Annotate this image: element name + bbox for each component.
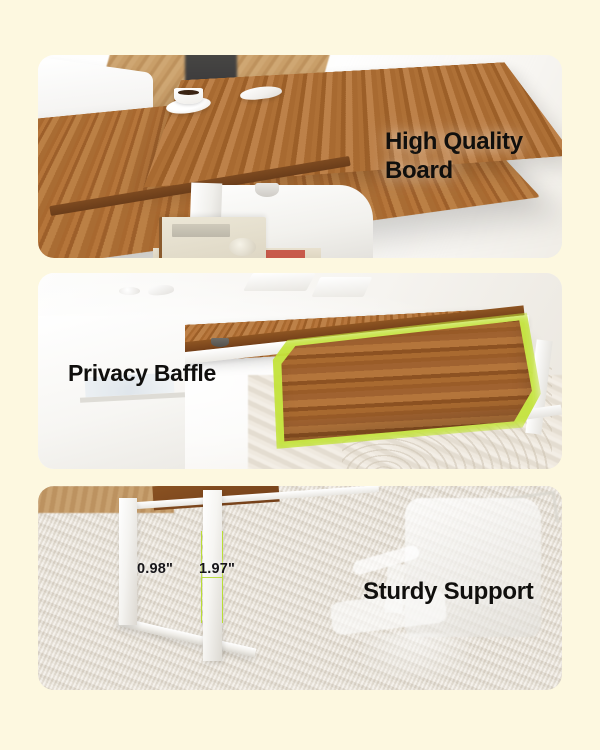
product-feature-infographic: High Quality Board Privacy Baffle — [0, 0, 600, 750]
coffee-cup — [119, 287, 140, 295]
office-chair-base — [363, 633, 468, 678]
monitor-riser — [243, 273, 315, 291]
monitor-riser-secondary — [311, 277, 372, 297]
coffee-cup — [174, 88, 203, 103]
dimension-label-leg-width: 1.97" — [199, 561, 235, 577]
radio-knob — [229, 238, 256, 256]
feature-label-sturdy-support: Sturdy Support — [363, 577, 533, 606]
vintage-radio — [159, 217, 267, 258]
dimension-label-leg-depth: 0.98" — [137, 561, 173, 577]
feature-label-privacy-baffle: Privacy Baffle — [68, 359, 216, 387]
radio-display — [172, 224, 230, 237]
feature-label-high-quality-board: High Quality Board — [385, 127, 523, 186]
desk-leg-left — [119, 498, 137, 624]
